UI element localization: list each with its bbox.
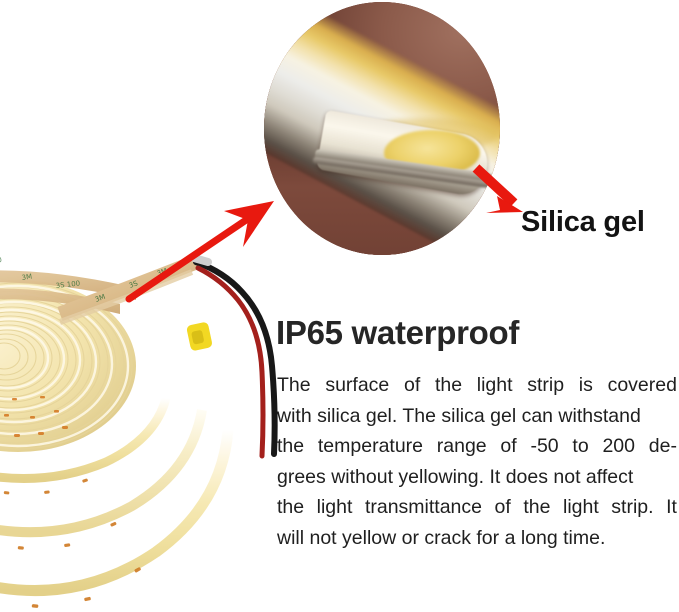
paragraph-line: the light transmittance of the light str… [277, 492, 677, 523]
svg-text:3S 100: 3S 100 [0, 256, 2, 268]
paragraph-line: the temperature range of -50 to 200 de- [277, 431, 677, 462]
word: the [435, 370, 462, 401]
infographic-canvas: 3S 100 3M 3S 100 [0, 0, 679, 612]
word: strip. [611, 492, 653, 523]
word: of [495, 492, 511, 523]
word: range [437, 431, 487, 462]
paragraph-line: will not yellow or crack for a long time… [277, 523, 677, 554]
lead-wires [194, 258, 275, 456]
word: transmittance [365, 492, 482, 523]
word: surface [325, 370, 389, 401]
description-paragraph: The surface of the light strip is covere… [277, 370, 677, 553]
silica-gel-label: Silica gel [521, 206, 645, 239]
yellow-cable-clip [186, 321, 213, 351]
word: It [666, 492, 677, 523]
word: de- [649, 431, 677, 462]
word: the [277, 492, 304, 523]
strip-tail: 3M 3S 3M [60, 262, 196, 322]
macro-inset-circle [264, 2, 500, 255]
word: light [563, 492, 599, 523]
word: temperature [318, 431, 423, 462]
word: of [500, 431, 516, 462]
word: light [317, 492, 353, 523]
word: -50 [530, 431, 558, 462]
word: covered [608, 370, 677, 401]
led-strip-roll-photo: 3S 100 3M 3S 100 [0, 248, 290, 612]
word: of [404, 370, 420, 401]
word: is [579, 370, 593, 401]
word: the [523, 492, 550, 523]
paragraph-line: with silica gel. The silica gel can with… [277, 401, 677, 432]
paragraph-line: The surface of the light strip is covere… [277, 370, 677, 401]
word: the [277, 431, 304, 462]
word: 200 [602, 431, 635, 462]
word: strip [527, 370, 564, 401]
word: to [572, 431, 588, 462]
led-strip-coils: 3S 100 3M 3S 100 [0, 248, 290, 612]
paragraph-line: grees without yellowing. It does not aff… [277, 462, 677, 493]
page-title: IP65 waterproof [276, 311, 519, 355]
word: The [277, 370, 311, 401]
svg-text:3M: 3M [21, 273, 33, 282]
word: light [477, 370, 513, 401]
